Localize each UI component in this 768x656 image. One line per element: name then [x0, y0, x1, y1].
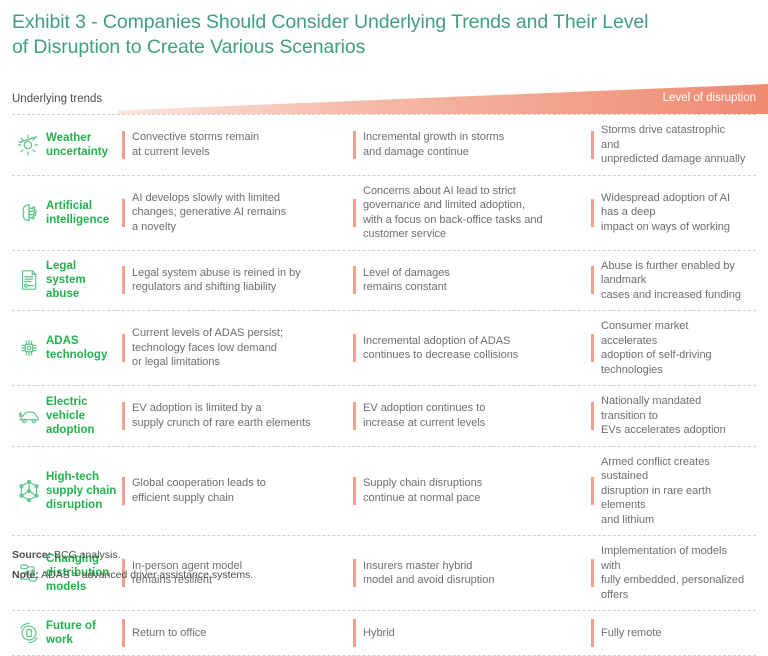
source-text: BCG analysis.	[51, 549, 120, 561]
scenario-line: technology faces low demand	[132, 341, 283, 356]
scenario-cell-high: Abuse is further enabled by landmark cas…	[591, 251, 756, 311]
trend-label-line: Artificial	[46, 200, 92, 212]
scenario-line: Convective storms remain	[132, 130, 259, 145]
scenario-cell-high: Nationally mandated transition to EVs ac…	[591, 386, 756, 446]
underlying-trends-label: Underlying trends	[12, 93, 102, 105]
scenario-line: or legal limitations	[132, 355, 283, 370]
scenario-line: and damage continue	[363, 145, 504, 160]
scenario-line: impact on ways of working	[601, 220, 746, 235]
trend-label-line: Legal system	[46, 260, 86, 286]
scenario-line: disruption in rare earth elements	[601, 484, 746, 513]
weather-icon	[12, 115, 46, 175]
scenario-line: Level of damages	[363, 266, 450, 281]
scenario-cell-high: Fully remote	[591, 611, 756, 655]
scenario-line: fully embedded, personalized offers	[601, 573, 746, 602]
trend-label: Artificial intelligence	[46, 176, 122, 250]
page-title: Exhibit 3 - Companies Should Consider Un…	[0, 0, 768, 60]
table-row: Artificial intelligence AI develops slow…	[12, 176, 756, 251]
scenario-line: regulators and shifting liability	[132, 280, 301, 295]
scenario-line: governance and limited adoption,	[363, 198, 543, 213]
scenario-line: Insurers master hybrid	[363, 559, 494, 574]
scenario-line: EVs accelerates adoption	[601, 423, 746, 438]
scenario-line: AI develops slowly with limited	[132, 191, 286, 206]
scenario-line: unpredicted damage annually	[601, 152, 746, 167]
scenario-line: EV adoption is limited by a	[132, 401, 311, 416]
scenario-line: continue at normal pace	[363, 491, 482, 506]
page-title-line-2: of Disruption to Create Various Scenario…	[12, 35, 746, 60]
table-row: Legal system abuse Legal system abuse is…	[12, 251, 756, 312]
table-row: Future of work Return to office Hybrid F…	[12, 611, 756, 656]
scenario-cell-mid: Hybrid	[353, 611, 591, 655]
scenario-line: model and avoid disruption	[363, 573, 494, 588]
scenario-line: continues to decrease collisions	[363, 348, 518, 363]
electric-car-icon	[12, 386, 46, 446]
page-title-line-1: Exhibit 3 - Companies Should Consider Un…	[12, 10, 746, 35]
trend-label-line: High-tech	[46, 471, 99, 483]
scenario-line: at current levels	[132, 145, 259, 160]
scenario-cell-low: Return to office	[122, 611, 353, 655]
trend-label-line: intelligence	[46, 214, 109, 226]
table-row: ADAS technology Current levels of ADAS p…	[12, 311, 756, 386]
scenario-line: Abuse is further enabled by landmark	[601, 259, 746, 288]
trend-label-line: adoption	[46, 424, 95, 436]
scenario-line: Legal system abuse is reined in by	[132, 266, 301, 281]
trend-label-line: Future	[46, 620, 82, 632]
future-work-icon	[12, 611, 46, 655]
scenario-line: increase at current levels	[363, 416, 485, 431]
scenario-line: Consumer market accelerates	[601, 319, 746, 348]
trend-label: Weather uncertainty	[46, 115, 122, 175]
trend-label: Electric vehicle adoption	[46, 386, 122, 446]
scenario-line: efficient supply chain	[132, 491, 266, 506]
scenario-line: Return to office	[132, 626, 206, 641]
scenario-line: Armed conflict creates sustained	[601, 455, 746, 484]
scenario-line: remains constant	[363, 280, 450, 295]
scenario-line: customer service	[363, 227, 543, 242]
trend-label-line: disruption	[46, 499, 102, 511]
scenario-line: Global cooperation leads to	[132, 476, 266, 491]
scenario-line: Nationally mandated transition to	[601, 394, 746, 423]
scenario-line: Fully remote	[601, 626, 662, 641]
scenario-cell-mid: Incremental adoption of ADAS continues t…	[353, 311, 591, 385]
scenario-cell-low: Legal system abuse is reined in by regul…	[122, 251, 353, 311]
scenario-line: with a focus on back-office tasks and	[363, 213, 543, 228]
trend-label-line: uncertainty	[46, 146, 108, 158]
trend-label-line: abuse	[46, 288, 79, 300]
note-text: ADAS = advanced driver assistance system…	[39, 569, 253, 581]
brain-circuit-icon	[12, 176, 46, 250]
scenario-cell-high: Consumer market accelerates adoption of …	[591, 311, 756, 385]
trend-label-line: vehicle	[46, 410, 85, 422]
network-nodes-icon	[12, 447, 46, 536]
source-label: Source:	[12, 549, 51, 561]
scenario-cell-mid: Level of damages remains constant	[353, 251, 591, 311]
scenario-line: cases and increased funding	[601, 288, 746, 303]
chip-sensor-icon	[12, 311, 46, 385]
table-row: Electric vehicle adoption EV adoption is…	[12, 386, 756, 447]
footer-notes: Source: BCG analysis. Note: ADAS = advan…	[12, 545, 253, 585]
scenario-cell-low: Convective storms remain at current leve…	[122, 115, 353, 175]
trend-label: Legal system abuse	[46, 251, 122, 311]
level-of-disruption-label: Level of disruption	[663, 92, 756, 104]
scenario-cell-mid: EV adoption continues to increase at cur…	[353, 386, 591, 446]
scenario-cell-mid: Concerns about AI lead to strict governa…	[353, 176, 591, 250]
scenario-line: EV adoption continues to	[363, 401, 485, 416]
scenario-line: and lithium	[601, 513, 746, 528]
scenario-cell-high: Widespread adoption of AI has a deep imp…	[591, 176, 756, 250]
trend-label: High-tech supply chain disruption	[46, 447, 122, 536]
trend-label-line: Weather	[46, 132, 91, 144]
scenario-line: Current levels of ADAS persist;	[132, 326, 283, 341]
scenario-line: Supply chain disruptions	[363, 476, 482, 491]
table-row: High-tech supply chain disruption Global…	[12, 447, 756, 537]
scenario-line: changes; generative AI remains	[132, 205, 286, 220]
scenario-line: Incremental growth in storms	[363, 130, 504, 145]
scenario-cell-low: EV adoption is limited by a supply crunc…	[122, 386, 353, 446]
trend-label-line: supply chain	[46, 485, 116, 497]
abbreviation-note: Note: ADAS = advanced driver assistance …	[12, 565, 253, 585]
scenario-line: Hybrid	[363, 626, 395, 641]
scenario-cell-low: AI develops slowly with limited changes;…	[122, 176, 353, 250]
scenario-cell-mid: Incremental growth in storms and damage …	[353, 115, 591, 175]
scenario-line: supply crunch of rare earth elements	[132, 416, 311, 431]
scenario-cell-mid: Supply chain disruptions continue at nor…	[353, 447, 591, 536]
trend-label-line: Electric	[46, 396, 88, 408]
legal-document-icon	[12, 251, 46, 311]
scenario-line: Storms drive catastrophic and	[601, 123, 746, 152]
trend-label-line: technology	[46, 349, 107, 361]
scenario-line: a novelty	[132, 220, 286, 235]
scenario-cell-low: Current levels of ADAS persist; technolo…	[122, 311, 353, 385]
trend-label-line: ADAS	[46, 335, 79, 347]
scenario-line: Widespread adoption of AI has a deep	[601, 191, 746, 220]
table-row: Weather uncertainty Convective storms re…	[12, 115, 756, 176]
note-label: Note:	[12, 569, 39, 581]
scenario-cell-high: Armed conflict creates sustained disrupt…	[591, 447, 756, 536]
trend-label: ADAS technology	[46, 311, 122, 385]
scenario-cell-high: Storms drive catastrophic and unpredicte…	[591, 115, 756, 175]
scenario-line: Incremental adoption of ADAS	[363, 334, 518, 349]
scenario-line: Implementation of models with	[601, 544, 746, 573]
scenario-line: adoption of self-driving technologies	[601, 348, 746, 377]
scenario-cell-low: Global cooperation leads to efficient su…	[122, 447, 353, 536]
source-note: Source: BCG analysis.	[12, 545, 253, 565]
trend-label: Future of work	[46, 611, 122, 655]
disruption-scale-header: Underlying trends Level of disruption	[0, 84, 768, 114]
scenario-line: Concerns about AI lead to strict	[363, 184, 543, 199]
